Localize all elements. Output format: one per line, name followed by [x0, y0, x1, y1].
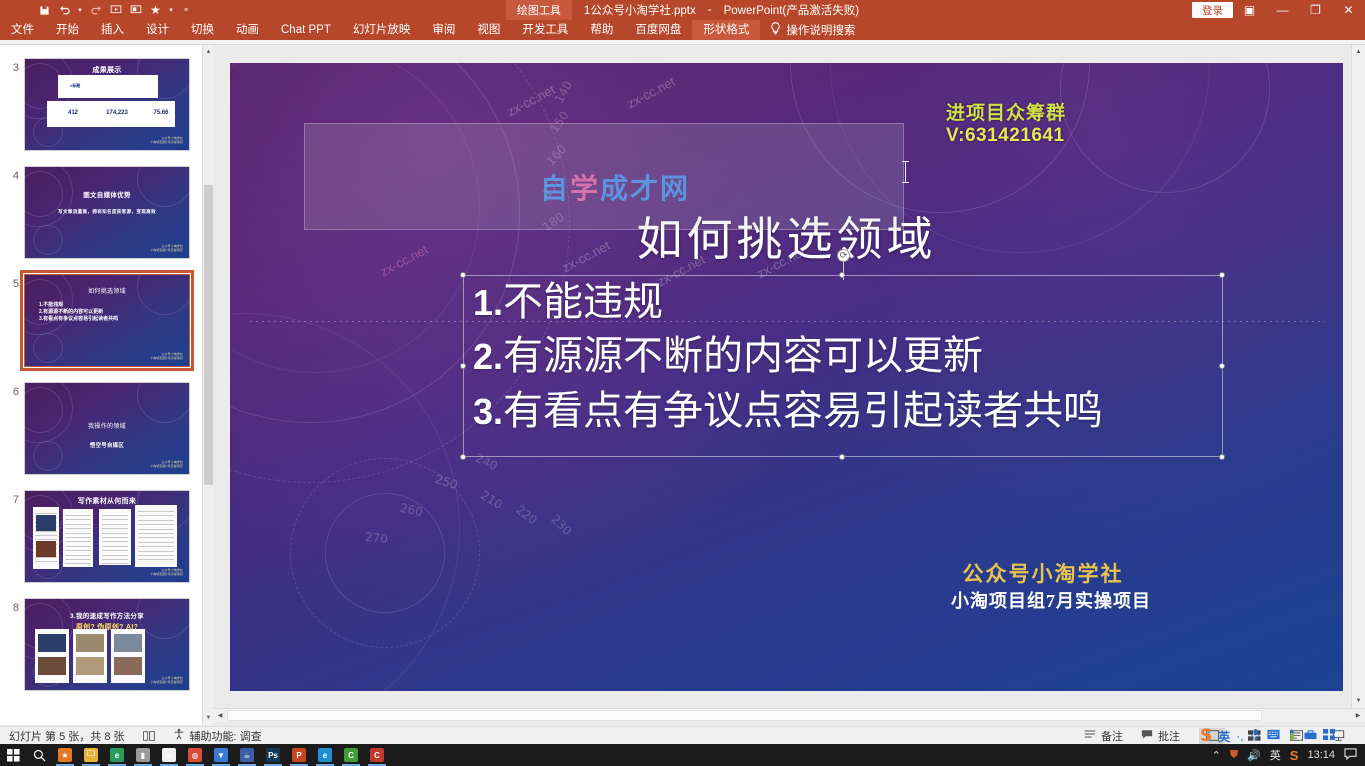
thumb-doc-line: [65, 563, 90, 564]
thumb-doc-line: [35, 535, 57, 536]
taskbar-chrome-icon[interactable]: ◍: [182, 744, 208, 766]
watermark-site-2: zx-cc.net: [625, 74, 678, 112]
layout-indicator-icon[interactable]: [134, 731, 164, 741]
ribbon-tab-2[interactable]: 开始: [45, 20, 90, 40]
taskbar-clock[interactable]: 13:14: [1307, 749, 1335, 761]
taskbar-file-explorer-icon[interactable]: 🗀: [78, 744, 104, 766]
ime-toolbar[interactable]: S 英 ·,: [1196, 726, 1339, 746]
thumbnail-line-3: 3.有看点有争议点容易引起读者共鸣: [39, 315, 118, 322]
ime-keyboard-icon[interactable]: [1267, 729, 1280, 743]
thumb-doc-image: [38, 634, 66, 652]
thumbnail-row-8[interactable]: 83.我的速成写作方法分享原创? 伪原创? AI?公众号小淘学社 小淘项目组7月…: [0, 598, 202, 706]
thumbnail-footer-5: 公众号小淘学社 小淘项目组7月实操项目: [150, 352, 183, 361]
slide-footer-brand: 公众号小淘学社: [843, 558, 1243, 588]
thumb-doc-line: [138, 520, 173, 521]
thumb-doc-1: [35, 629, 69, 683]
accessibility-icon: [173, 728, 185, 743]
thumbnail-slide-4[interactable]: 图文自媒体优势写文章流量高，拥有知名度获客源，变现高效公众号小淘学社 小淘项目组…: [24, 166, 190, 259]
thumb-doc-image: [76, 634, 104, 652]
scroll-right-icon[interactable]: ▶: [1351, 709, 1365, 722]
close-icon[interactable]: ✕: [1332, 0, 1365, 20]
tray-security-icon[interactable]: ⛊: [1230, 749, 1238, 762]
thumb-doc-line: [138, 551, 173, 552]
evernote-icon: e: [318, 748, 332, 762]
slide-bullet-3[interactable]: 3.有看点有争议点容易引起读者共鸣: [473, 384, 1343, 438]
thumb-doc-line: [65, 537, 90, 538]
thumb-doc-1: [33, 507, 59, 569]
thumb-doc-line: [102, 555, 129, 556]
thumbnail-scrollbar[interactable]: ▲ ▼: [202, 45, 213, 725]
thumb-doc-line: [35, 513, 57, 514]
ribbon-tabs: 文件开始插入设计切换动画Chat PPT幻灯片放映审阅视图开发工具帮助百度网盘形…: [0, 20, 1365, 40]
slide-thumbnail-panel[interactable]: 3成果展示412174,22375.66#标题公众号小淘学社 小淘项目组7月实操…: [0, 45, 202, 725]
accessibility-label: 辅助功能: 调查: [190, 728, 262, 744]
thumbnail-subtitle-4: 写文章流量高，拥有知名度获客源，变现高效: [25, 209, 189, 215]
slide-bullet-1[interactable]: 1.不能违规: [473, 275, 1343, 329]
camtasia-icon: C: [370, 748, 384, 762]
thumb-doc-line: [138, 546, 173, 547]
document-title: 1公众号小淘学社.pptx: [584, 2, 696, 18]
thumbnail-row-6[interactable]: 6我操作的领域悟空号自媒区公众号小淘学社 小淘项目组7月实操项目: [0, 382, 202, 490]
thumb-deco-ring-4: [137, 382, 190, 423]
ribbon-tab-4[interactable]: 设计: [135, 20, 180, 40]
thumb-doc-2: [73, 629, 107, 683]
scroll-up-icon[interactable]: ▲: [1352, 45, 1365, 59]
redo-icon[interactable]: [87, 2, 104, 19]
rotation-handle[interactable]: ⟳: [837, 249, 850, 262]
start-button-icon[interactable]: [0, 744, 26, 766]
action-center-icon[interactable]: [1344, 748, 1357, 763]
quick-access-toolbar: ▾ ★ ▾ ≡: [36, 0, 190, 20]
thumb-deco-ring-4: [137, 166, 190, 207]
qq-icon: ∞: [162, 748, 176, 762]
taskbar-wechat-icon[interactable]: C: [338, 744, 364, 766]
thumb-doc-3: [99, 509, 131, 565]
title-separator: -: [708, 4, 712, 16]
save-icon[interactable]: [36, 2, 53, 19]
thumbnail-number-4: 4: [5, 170, 19, 182]
thumb-doc-line: [65, 528, 90, 529]
thumb-doc-image-2: [76, 657, 104, 675]
comments-label: 批注: [1158, 728, 1180, 744]
bullet-number-1: 1.: [473, 282, 503, 323]
thumbnail-slide-6[interactable]: 我操作的领域悟空号自媒区公众号小淘学社 小淘项目组7月实操项目: [24, 382, 190, 475]
thumb-doc-line: [65, 559, 90, 560]
resize-handle-middle-left[interactable]: [460, 363, 466, 369]
thumb-doc-line: [65, 555, 90, 556]
thumb-doc-line: [138, 555, 173, 556]
thumb-doc-line: [102, 550, 129, 551]
status-bar: 幻灯片 第 5 张，共 8 张 辅助功能: 调查 备注 批注: [0, 726, 1365, 744]
thumb-doc-line: [138, 524, 173, 525]
ribbon-tab-1[interactable]: 文件: [0, 20, 45, 40]
title-bar: ▾ ★ ▾ ≡ 绘图工具 1公众号小淘学社.pptx - PowerPoint(…: [0, 0, 1365, 20]
ribbon-tab-10[interactable]: 视图: [466, 20, 511, 40]
thumbnail-slide-7[interactable]: 写作素材从何而来公众号小淘学社 小淘项目组7月实操项目: [24, 490, 190, 583]
tray-ime-language-icon[interactable]: 英: [1270, 747, 1281, 763]
thumb-doc-4: [135, 505, 177, 567]
favorite-dropdown-icon[interactable]: ▾: [167, 6, 175, 14]
system-tray: ⌃ ⛊ 🔊 英 S 13:14: [1212, 747, 1365, 763]
thumb-doc-2: [63, 509, 93, 567]
thumb-doc-image: [114, 634, 142, 652]
bullet-number-2: 2.: [473, 336, 503, 377]
photoshop-icon: Ps: [266, 748, 280, 762]
ribbon-tab-6[interactable]: 动画: [225, 20, 270, 40]
taskbar-evernote-icon[interactable]: e: [312, 744, 338, 766]
watermark-group-contact: 进项目众筹群 V:631421641: [946, 103, 1066, 148]
customize-quick-access-icon[interactable]: ≡: [182, 7, 190, 14]
thumbnail-number-3: 3: [5, 62, 19, 74]
watermark-group-line1: 进项目众筹群: [946, 103, 1066, 125]
notes-label: 备注: [1101, 728, 1123, 744]
ime-punctuation-icon[interactable]: ·,: [1236, 729, 1243, 743]
thumbnail-footer-6: 公众号小淘学社 小淘项目组7月实操项目: [150, 460, 183, 469]
ribbon-tab-5[interactable]: 切换: [180, 20, 225, 40]
horizontal-scroll-thumb[interactable]: [227, 710, 1262, 721]
ribbon-tab-bar: 文件开始插入设计切换动画Chat PPT幻灯片放映审阅视图开发工具帮助百度网盘形…: [0, 20, 1365, 40]
search-icon[interactable]: [26, 744, 52, 766]
ime-mode-icon[interactable]: 英: [1218, 728, 1230, 745]
taskbar-powerpoint-icon[interactable]: P: [286, 744, 312, 766]
favorite-icon[interactable]: ★: [147, 2, 164, 19]
ribbon-tab-3[interactable]: 插入: [90, 20, 135, 40]
thumbnail-row-3[interactable]: 3成果展示412174,22375.66#标题公众号小淘学社 小淘项目组7月实操…: [0, 58, 202, 166]
thumbnail-subtitle-6: 悟空号自媒区: [25, 441, 189, 449]
taskbar-explorer-star-icon[interactable]: ★: [52, 744, 78, 766]
maximize-icon[interactable]: ❐: [1299, 0, 1332, 20]
explorer-star-icon: ★: [58, 748, 72, 762]
undo-icon[interactable]: [56, 2, 73, 19]
thumbnail-row-5[interactable]: 5如何挑选领域1.不能违规2.有源源不断的内容可以更新3.有看点有争议点容易引起…: [0, 274, 202, 382]
thumbnail-number-5: 5: [5, 278, 19, 290]
sogou-logo-icon[interactable]: S: [1200, 726, 1212, 746]
ime-voice-icon[interactable]: [1250, 728, 1261, 744]
thumb-doc-line: [102, 546, 129, 547]
thumb-doc-line: [65, 515, 90, 516]
ribbon-tab-11[interactable]: 开发工具: [511, 20, 579, 40]
thumb-doc-line: [138, 515, 173, 516]
tell-me-label: 操作说明搜索: [786, 22, 855, 38]
thumb-doc-line: [102, 528, 129, 529]
thumbnail-title-6: 我操作的领域: [25, 421, 189, 430]
thumb-doc-line: [102, 537, 129, 538]
taskbar-usb-device-icon[interactable]: ▮: [130, 744, 156, 766]
taskbar-wechat-work-icon[interactable]: ▼: [208, 744, 234, 766]
taskbar-photoshop-icon[interactable]: Ps: [260, 744, 286, 766]
comments-button[interactable]: 批注: [1132, 728, 1189, 744]
ime-menu-icon[interactable]: [1323, 729, 1335, 743]
thumb-deco-ring-3: [33, 333, 63, 363]
thumbnail-footer-8: 公众号小淘学社 小淘项目组7月实操项目: [150, 676, 183, 685]
bullet-text-1: 不能违规: [503, 279, 663, 324]
thumb-doc-line: [65, 519, 90, 520]
current-slide[interactable]: 140150160170180210220230240250260270 如何挑…: [230, 63, 1343, 691]
thumb-doc-image-2: [114, 657, 142, 675]
thumbnail-row-7[interactable]: 7写作素材从何而来公众号小淘学社 小淘项目组7月实操项目: [0, 490, 202, 598]
thumb-doc-line: [138, 542, 173, 543]
gauge-label-230: 230: [548, 512, 574, 538]
resize-handle-bottom-right[interactable]: [1219, 454, 1225, 460]
coffee-icon: ☕: [240, 748, 254, 762]
contextual-tab-label: 绘图工具: [506, 0, 572, 21]
thumb-doc-line: [102, 541, 129, 542]
edge-icon: e: [110, 748, 124, 762]
notes-button[interactable]: 备注: [1075, 728, 1132, 744]
ribbon-tab-9[interactable]: 审阅: [421, 20, 466, 40]
ribbon-tab-8[interactable]: 幻灯片放映: [342, 20, 422, 40]
thumb-stat-2: 174,223: [97, 110, 137, 116]
ribbon-tab-7[interactable]: Chat PPT: [270, 20, 342, 40]
slide-counter[interactable]: 幻灯片 第 5 张，共 8 张: [0, 728, 134, 744]
thumb-doc-line: [102, 524, 129, 525]
thumbnail-slide-3[interactable]: 成果展示412174,22375.66#标题公众号小淘学社 小淘项目组7月实操项…: [24, 58, 190, 151]
thumb-doc-line: [65, 546, 90, 547]
thumbnail-line-1: 1.不能违规: [39, 301, 63, 308]
thumb-doc-line: [65, 541, 90, 542]
thumb-doc-line: [138, 529, 173, 530]
resize-handle-top-left[interactable]: [460, 272, 466, 278]
thumb-doc-line: [35, 557, 57, 558]
thumb-doc-line: [35, 561, 57, 562]
gauge-label-220: 220: [513, 502, 540, 527]
thumb-doc-3: [111, 629, 145, 683]
watermark-site-large: 自学成才网: [540, 167, 690, 207]
thumbnail-title-8: 3.我的速成写作方法分享: [25, 610, 189, 620]
thumb-stat-3: 75.66: [141, 110, 181, 116]
thumbnail-title-3: 成果展示: [25, 65, 189, 75]
thumbnail-number-7: 7: [5, 494, 19, 506]
thumb-doc-line: [65, 550, 90, 551]
scroll-down-icon[interactable]: ▼: [1352, 694, 1365, 708]
tray-sogou-icon[interactable]: S: [1290, 748, 1299, 763]
notes-icon: [1084, 729, 1096, 742]
thumbnail-number-6: 6: [5, 386, 19, 398]
powerpoint-window: ▾ ★ ▾ ≡ 绘图工具 1公众号小淘学社.pptx - PowerPoint(…: [0, 0, 1365, 766]
thumb-doc-line: [102, 563, 129, 564]
thumbnail-slide-8[interactable]: 3.我的速成写作方法分享原创? 伪原创? AI?公众号小淘学社 小淘项目组7月实…: [24, 598, 190, 691]
chrome-icon: ◍: [188, 748, 202, 762]
watermark-group-line2: V:631421641: [946, 125, 1066, 147]
ime-toolbox-icon[interactable]: [1304, 729, 1317, 743]
presenter-view-icon[interactable]: [127, 2, 144, 19]
tray-expand-icon[interactable]: ⌃: [1212, 749, 1221, 762]
thumbnail-number-8: 8: [5, 602, 19, 614]
resize-handle-bottom-center[interactable]: [839, 454, 845, 460]
thumbnail-title-4: 图文自媒体优势: [25, 189, 189, 199]
start-slideshow-icon[interactable]: [107, 2, 124, 19]
window-buttons: ▣ — ❐ ✕: [1233, 0, 1365, 20]
thumbnail-row-4[interactable]: 4图文自媒体优势写文章流量高，拥有知名度获客源，变现高效公众号小淘学社 小淘项目…: [0, 166, 202, 274]
thumb-doc-image-2: [38, 657, 66, 675]
ribbon-tab-13[interactable]: 百度网盘: [624, 20, 692, 40]
taskbar-qq-icon[interactable]: ∞: [156, 744, 182, 766]
bullet-number-3: 3.: [473, 391, 503, 432]
app-title: PowerPoint(产品激活失败): [724, 2, 859, 18]
ribbon-tab-14[interactable]: 形状格式: [692, 20, 760, 40]
tray-volume-icon[interactable]: 🔊: [1247, 749, 1261, 762]
thumbnail-title-5: 如何挑选领域: [25, 286, 189, 295]
thumb-card-sub-label: #标题: [70, 83, 80, 89]
taskbar-coffee-icon[interactable]: ☕: [234, 744, 260, 766]
thumb-doc-line: [65, 524, 90, 525]
thumb-doc-line: [138, 537, 173, 538]
thumbnail-footer-7: 公众号小淘学社 小淘项目组7月实操项目: [150, 568, 183, 577]
windows-taskbar: ★🗀e▮∞◍▼☕PsPeCC ⌃ ⛊ 🔊 英 S 13:14: [0, 744, 1365, 766]
resize-handle-bottom-left[interactable]: [460, 454, 466, 460]
file-explorer-icon: 🗀: [84, 748, 98, 762]
thumbnail-footer-4: 公众号小淘学社 小淘项目组7月实操项目: [150, 244, 183, 253]
taskbar-edge-icon[interactable]: e: [104, 744, 130, 766]
bullet-text-3: 有看点有争议点容易引起读者共鸣: [503, 388, 1103, 433]
thumb-doc-line: [102, 515, 129, 516]
lightbulb-icon: [770, 22, 781, 38]
undo-dropdown-icon[interactable]: ▾: [76, 6, 84, 14]
thumbnail-line-2: 2.有源源不断的内容可以更新: [39, 308, 103, 315]
accessibility-status[interactable]: 辅助功能: 调查: [164, 728, 271, 744]
ribbon-display-options-icon[interactable]: ▣: [1233, 0, 1266, 20]
slide-editing-stage: 140150160170180210220230240250260270 如何挑…: [213, 45, 1365, 725]
scroll-left-icon[interactable]: ◀: [213, 709, 227, 722]
wechat-icon: C: [344, 748, 358, 762]
gauge-label-270: 270: [364, 530, 388, 546]
horizontal-scrollbar[interactable]: ◀ ▶: [213, 708, 1365, 722]
gauge-label-210: 210: [478, 488, 505, 512]
taskbar-camtasia-icon[interactable]: C: [364, 744, 390, 766]
minimize-icon[interactable]: —: [1266, 0, 1299, 20]
title-bar-text-group: 绘图工具 1公众号小淘学社.pptx - PowerPoint(产品激活失败): [0, 0, 1365, 20]
vertical-scrollbar[interactable]: ▲ ▼: [1351, 45, 1365, 708]
usb-device-icon: ▮: [136, 748, 150, 762]
thumbnail-footer-3: 公众号小淘学社 小淘项目组7月实操项目: [150, 136, 183, 145]
thumb-doc-line: [102, 559, 129, 560]
taskbar-app-buttons: ★🗀e▮∞◍▼☕PsPeCC: [52, 744, 390, 766]
thumb-stat-1: 412: [53, 110, 93, 116]
thumb-doc-image: [36, 515, 56, 531]
slide-bullet-2[interactable]: 2.有源源不断的内容可以更新: [473, 329, 1343, 383]
thumb-doc-line: [138, 533, 173, 534]
wechat-work-icon: ▼: [214, 748, 228, 762]
powerpoint-icon: P: [292, 748, 306, 762]
thumb-deco-ring-3: [33, 225, 63, 255]
thumb-doc-line: [138, 511, 173, 512]
thumb-doc-line: [102, 519, 129, 520]
slide-footer-subtitle: 小淘项目组7月实操项目: [851, 587, 1251, 613]
thumbnail-scroll-thumb[interactable]: [204, 185, 213, 485]
thumb-doc-image: [36, 541, 56, 557]
thumb-doc-line: [65, 533, 90, 534]
slide-body-text[interactable]: 1.不能违规2.有源源不断的内容可以更新3.有看点有争议点容易引起读者共鸣: [473, 275, 1343, 438]
ime-skin-icon[interactable]: [1286, 728, 1298, 744]
bullet-text-2: 有源源不断的内容可以更新: [503, 333, 983, 378]
login-button[interactable]: 登录: [1192, 2, 1233, 18]
text-cursor: [905, 161, 906, 183]
tell-me-search[interactable]: 操作说明搜索: [760, 22, 865, 38]
thumb-doc-line: [102, 533, 129, 534]
thumbnail-slide-5[interactable]: 如何挑选领域1.不能违规2.有源源不断的内容可以更新3.有看点有争议点容易引起读…: [24, 274, 190, 367]
ribbon-tab-12[interactable]: 帮助: [579, 20, 624, 40]
thumb-doc-line: [138, 559, 173, 560]
comment-icon: [1141, 729, 1153, 743]
